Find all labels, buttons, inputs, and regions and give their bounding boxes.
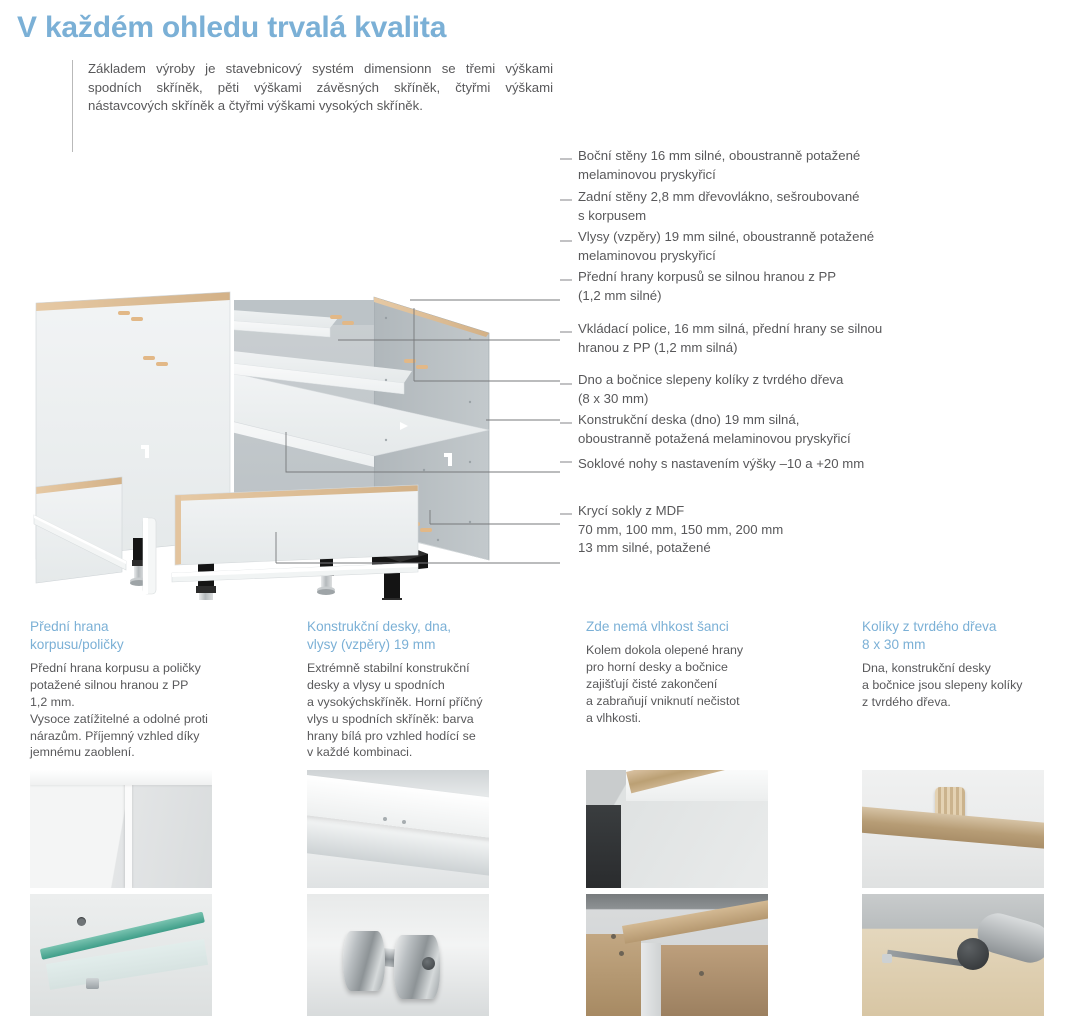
callout-leader-lines [560,159,572,514]
feature-body: Extrémně stabilní konstrukční desky a vl… [307,660,552,761]
feature-body: Přední hrana korpusu a poličky potažené … [30,660,275,761]
chipboard-corner-photo [586,894,768,1016]
feature-column-koliky: Kolíky z tvrdého dřeva 8 x 30 mm Dna, ko… [862,618,1077,711]
hardwood-dowel-photo [862,770,1044,888]
steel-dumbbell-load-photo [307,894,489,1016]
feature-body: Dna, konstrukční desky a bočnice jsou sl… [862,660,1077,711]
callout-predni-hrany-korpusu: Přední hrany korpusů se silnou hranou z … [578,268,836,305]
feature-column-vlhkost: Zde nemá vlhkost šanci Kolem dokola olep… [586,618,831,726]
feature-columns: Přední hrana korpusu/poličky Přední hran… [0,618,1085,1024]
callout-vkladaci-police: Vkládací police, 16 mm silná, přední hra… [578,320,882,357]
white-shelf-panel-photo [307,770,489,888]
photo-stack [586,770,831,1022]
feature-heading: Konstrukční desky, dna, vlysy (vzpěry) 1… [307,618,552,654]
feature-column-predni-hrana: Přední hrana korpusu/poličky Přední hran… [30,618,275,761]
photo-stack [30,770,275,1022]
callout-konstrukcni-deska: Konstrukční deska (dno) 19 mm silná, obo… [578,411,851,448]
feature-heading: Přední hrana korpusu/poličky [30,618,275,654]
callout-dno-bocnice-koliky: Dno a bočnice slepeny kolíky z tvrdého d… [578,371,843,408]
feature-body: Kolem dokola olepené hrany pro horní des… [586,642,831,726]
exploded-cabinet-diagram: Boční stěny 16 mm silné, oboustranně pot… [0,140,1085,600]
photo-stack [307,770,552,1022]
callout-kryci-sokly: Krycí sokly z MDF 70 mm, 100 mm, 150 mm,… [578,502,783,558]
cabinet-illustration [0,140,1085,600]
plinth-panel-part [175,485,418,565]
callout-zadni-steny: Zadní stěny 2,8 mm dřevovlákno, sešroubo… [578,188,859,225]
edge-banding-corner-photo [586,770,768,888]
intro-paragraph: Základem výroby je stavebnicový systém d… [88,60,553,116]
dowel-drilling-photo [862,894,1044,1016]
callout-soklove-nohy: Soklové nohy s nastavením výšky –10 a +2… [578,455,864,474]
photo-stack [862,770,1077,1022]
callout-bocni-steny: Boční stěny 16 mm silné, oboustranně pot… [578,147,860,184]
page-title: V každém ohledu trvalá kvalita [17,11,446,45]
cabinet-corner-white-photo [30,770,212,888]
feature-column-konstrukcni-desky: Konstrukční desky, dna, vlysy (vzpěry) 1… [307,618,552,761]
glass-shelf-edge-photo [30,894,212,1016]
feature-heading: Zde nemá vlhkost šanci [586,618,831,636]
intro-vertical-rule [72,60,73,152]
plinth-clip-part [143,518,156,594]
intro-block: Základem výroby je stavebnicový systém d… [72,60,572,116]
feature-heading: Kolíky z tvrdého dřeva 8 x 30 mm [862,618,1077,654]
callout-vlysy-vzpery: Vlysy (vzpěry) 19 mm silné, oboustranně … [578,228,874,265]
